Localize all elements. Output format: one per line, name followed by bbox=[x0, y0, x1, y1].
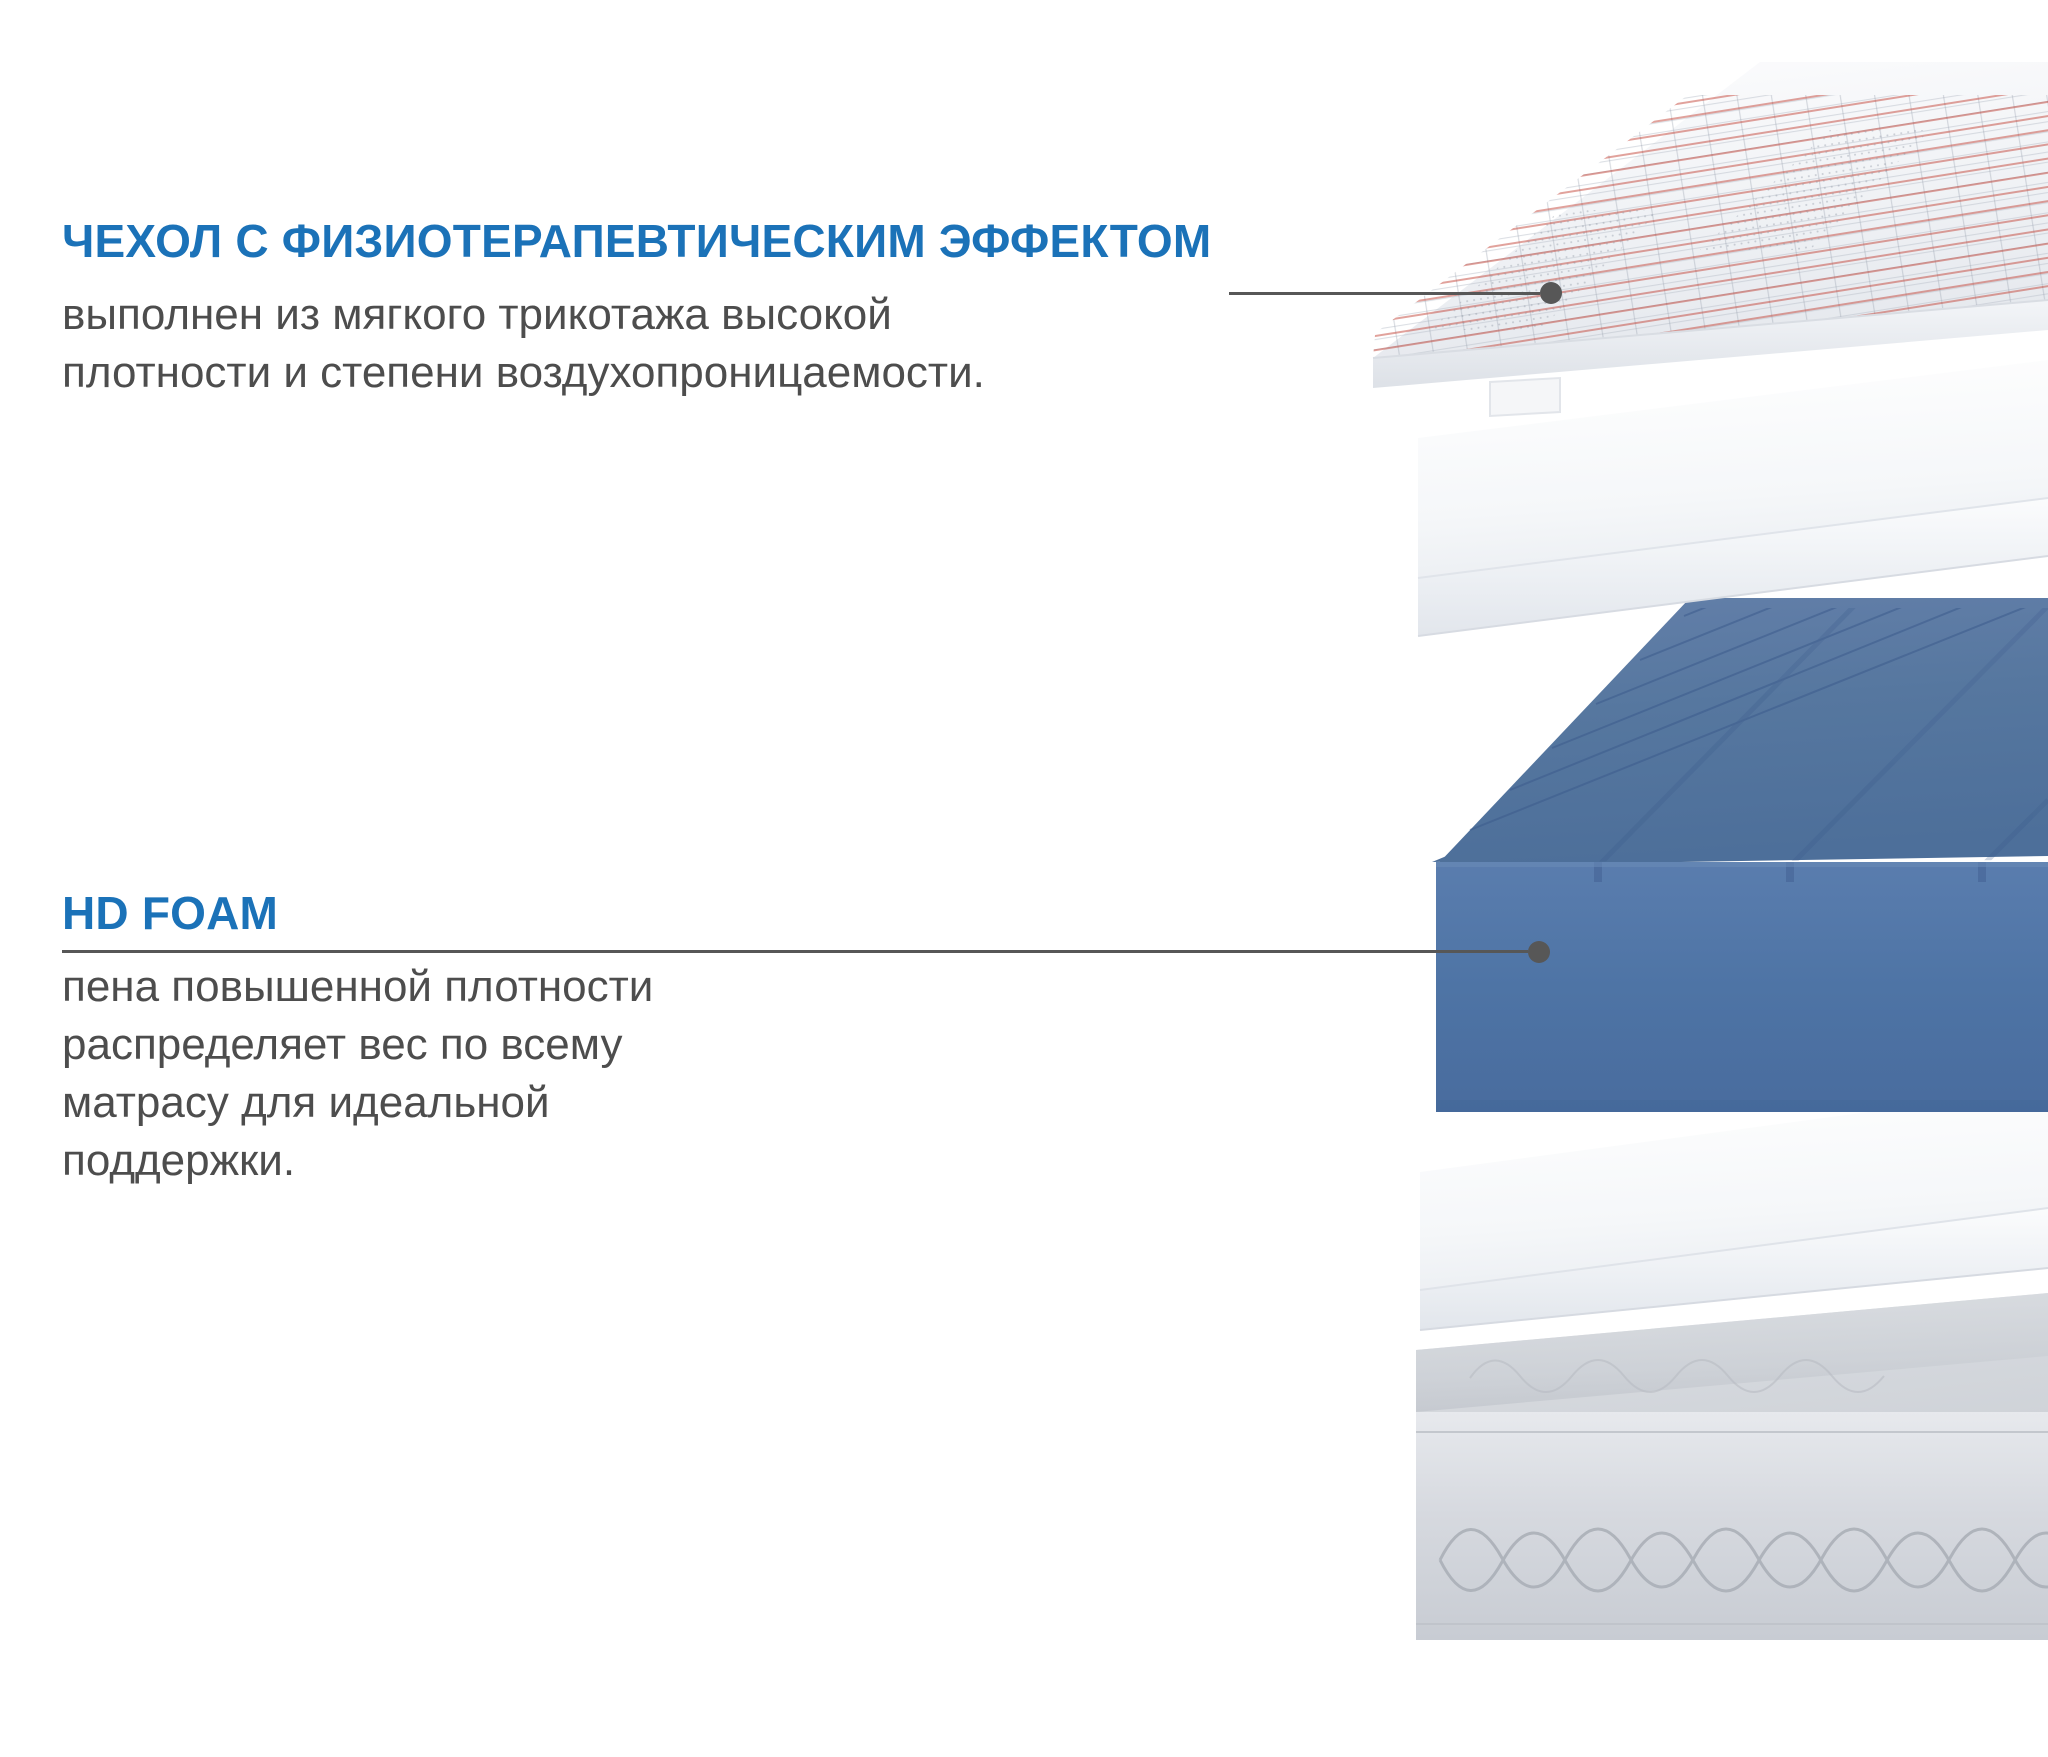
hd-foam-label-block: HD FOAM пена повышенной плотности распре… bbox=[62, 890, 653, 1190]
hd-foam-leader-dot bbox=[1528, 941, 1550, 963]
spring-base-layer bbox=[1416, 1293, 2048, 1640]
knit-cover-layer bbox=[1340, 40, 2048, 416]
cover-label-block: ЧЕХОЛ С ФИЗИОТЕРАПЕВТИЧЕСКИМ ЭФФЕКТОМ вы… bbox=[62, 218, 1211, 402]
hd-foam-layer bbox=[1406, 470, 2048, 1112]
cover-leader-dot bbox=[1540, 282, 1562, 304]
upper-foam-layer bbox=[1418, 360, 2048, 636]
cover-leader-line bbox=[1229, 292, 1540, 295]
hd-foam-label-body: пена повышенной плотности распределяет в… bbox=[62, 958, 653, 1190]
cover-label-title: ЧЕХОЛ С ФИЗИОТЕРАПЕВТИЧЕСКИМ ЭФФЕКТОМ bbox=[62, 218, 1211, 264]
lower-foam-layer bbox=[1420, 1088, 2048, 1330]
hd-foam-label-title: HD FOAM bbox=[62, 890, 653, 936]
cover-label-body: выполнен из мягкого трикотажа высокой пл… bbox=[62, 286, 1211, 402]
